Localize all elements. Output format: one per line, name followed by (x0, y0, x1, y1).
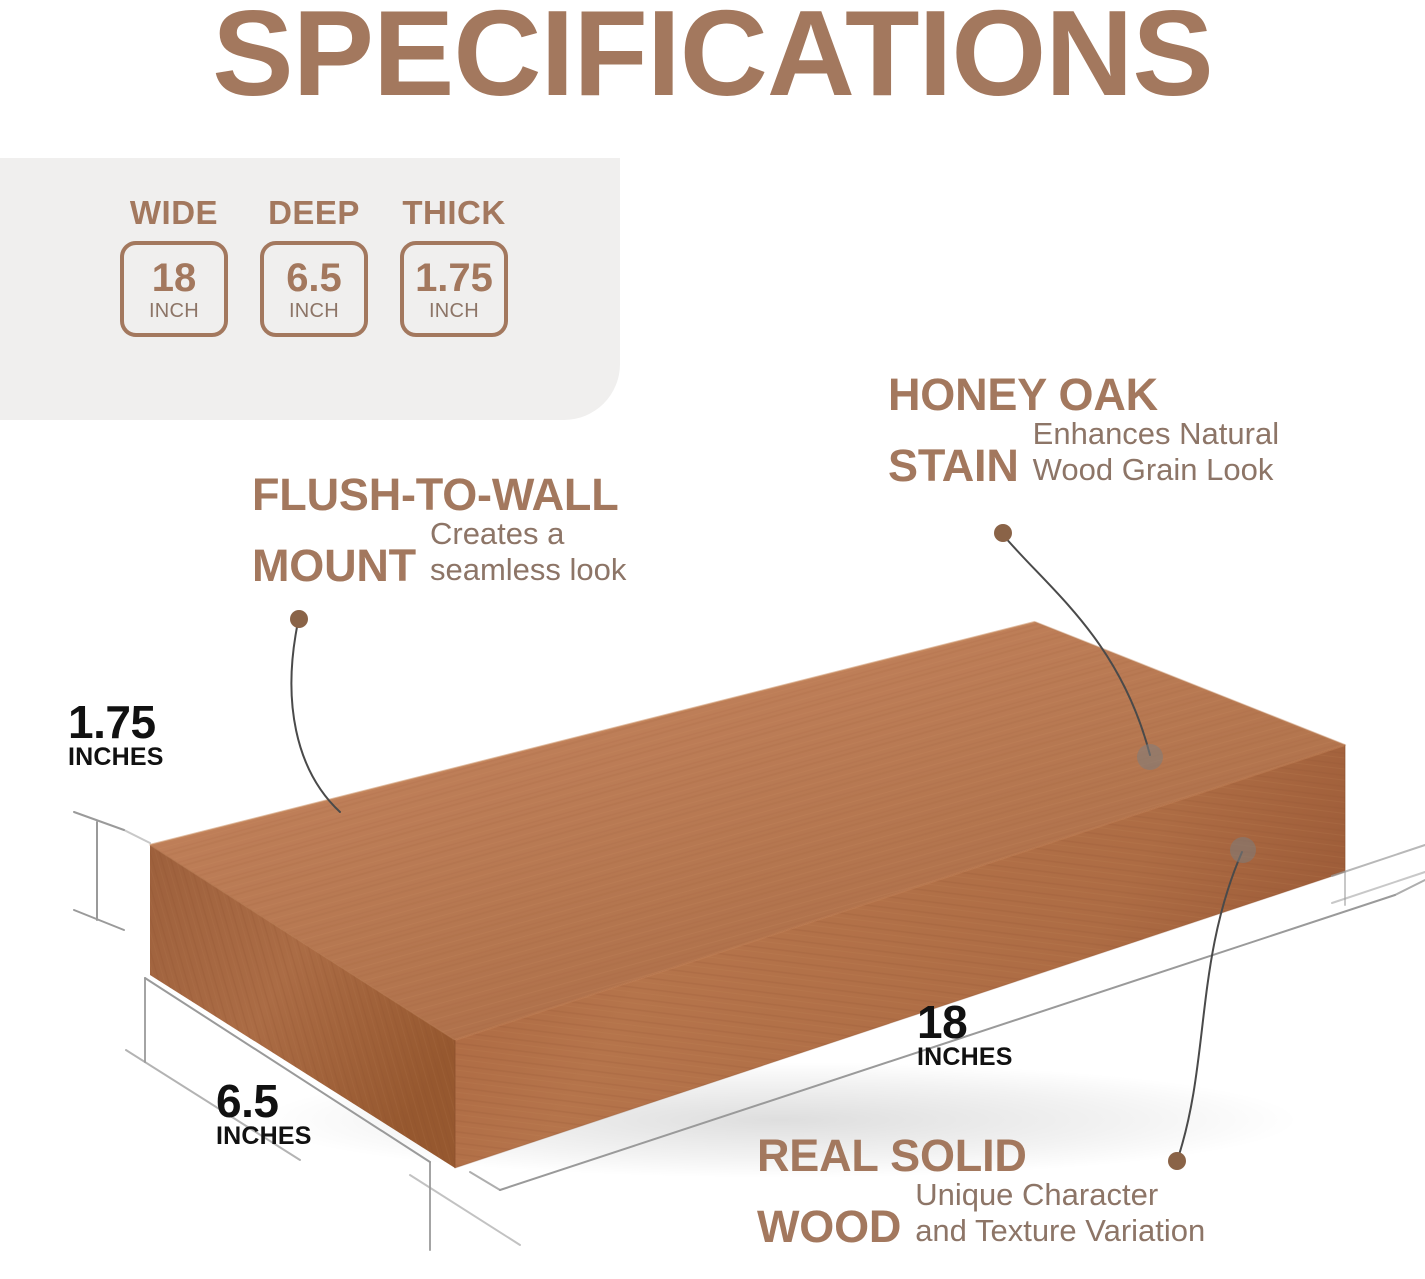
dimension-baseline-depth2 (410, 1175, 520, 1245)
infographic-canvas: SPECIFICATIONS WIDE 18 INCH DEEP 6.5 INC… (0, 0, 1425, 1279)
dimension-unit-depth: INCHES (216, 1124, 312, 1149)
callout-sub-honey-line1: Enhances Natural (1033, 416, 1279, 451)
dimension-tick-thickness-bottom (74, 910, 124, 930)
dimension-label-width: 18 INCHES (917, 1000, 1013, 1070)
callout-sub-wood-line1: Unique Character (915, 1177, 1205, 1212)
dimension-label-thickness: 1.75 INCHES (68, 700, 164, 770)
callout-heading-wood-line2: WOOD (757, 1204, 901, 1250)
dimension-ext-thickness (124, 830, 150, 843)
dimension-label-depth: 6.5 INCHES (216, 1079, 312, 1149)
callout-dot-flush-to-wall-mount (290, 610, 308, 628)
target-dot-honey-oak-stain (1137, 744, 1163, 770)
callout-sub-honey-line2: Wood Grain Look (1033, 452, 1279, 487)
dimension-unit-width: INCHES (917, 1045, 1013, 1070)
callout-dot-honey-oak-stain (994, 524, 1012, 542)
target-dot-real-solid-wood (1230, 837, 1256, 863)
callout-flush-to-wall-mount: FLUSH-TO-WALL MOUNT Creates a seamless l… (252, 472, 626, 589)
dimension-tick-thickness-top (74, 812, 124, 830)
callout-heading-honey-line1: HONEY OAK (888, 372, 1279, 418)
callout-sub-flush-line1: Creates a (430, 516, 626, 551)
leader-line-flush-to-wall-mount (291, 622, 340, 812)
dimension-value-thickness: 1.75 (68, 700, 164, 745)
callout-heading-honey-line2: STAIN (888, 443, 1019, 489)
dimension-tick-width-right (1395, 880, 1425, 895)
dimension-unit-thickness: INCHES (68, 745, 164, 770)
dimension-value-depth: 6.5 (216, 1079, 312, 1124)
product-illustration (0, 0, 1425, 1279)
callout-honey-oak-stain: HONEY OAK STAIN Enhances Natural Wood Gr… (888, 372, 1279, 489)
callout-sub-flush-line2: seamless look (430, 552, 626, 587)
callout-heading-wood-line1: REAL SOLID (757, 1133, 1205, 1179)
dimension-guide-width (1332, 845, 1425, 876)
callout-heading-flush-line2: MOUNT (252, 543, 416, 589)
callout-heading-flush-line1: FLUSH-TO-WALL (252, 472, 626, 518)
dimension-value-width: 18 (917, 1000, 1013, 1045)
dimension-tick-width-left (470, 1172, 500, 1190)
callout-sub-wood-line2: and Texture Variation (915, 1213, 1205, 1248)
callout-real-solid-wood: REAL SOLID WOOD Unique Character and Tex… (757, 1133, 1205, 1250)
